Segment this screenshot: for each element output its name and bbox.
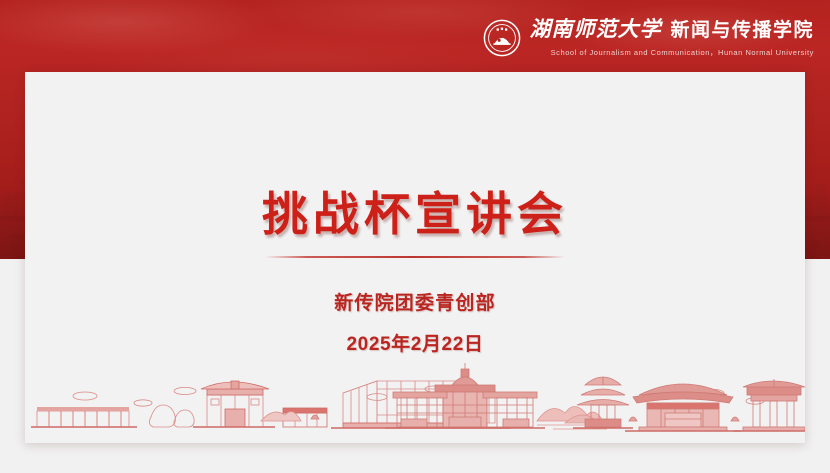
title-block: 挑战杯宣讲会 (25, 190, 805, 258)
subtitle-block: 新传院团委青创部 2025年2月22日 (25, 294, 805, 354)
university-branding: 湖南师范大学 新闻与传播学院 School of Journalism and … (483, 18, 814, 68)
university-name: 湖南师范大学 (529, 18, 661, 39)
college-name: 新闻与传播学院 (670, 21, 814, 40)
presentation-slide: 湖南师范大学 新闻与传播学院 School of Journalism and … (0, 0, 830, 473)
organization-name: 新传院团委青创部 (25, 294, 805, 313)
content-card: 挑战杯宣讲会 新传院团委青创部 2025年2月22日 (25, 72, 805, 443)
hunan-normal-university-seal-icon (483, 19, 521, 57)
landmark-line-art-illustration (25, 351, 805, 443)
title-underline-divider (265, 256, 565, 258)
page-title: 挑战杯宣讲会 (25, 190, 805, 240)
english-name: School of Journalism and Communication，H… (529, 47, 814, 58)
